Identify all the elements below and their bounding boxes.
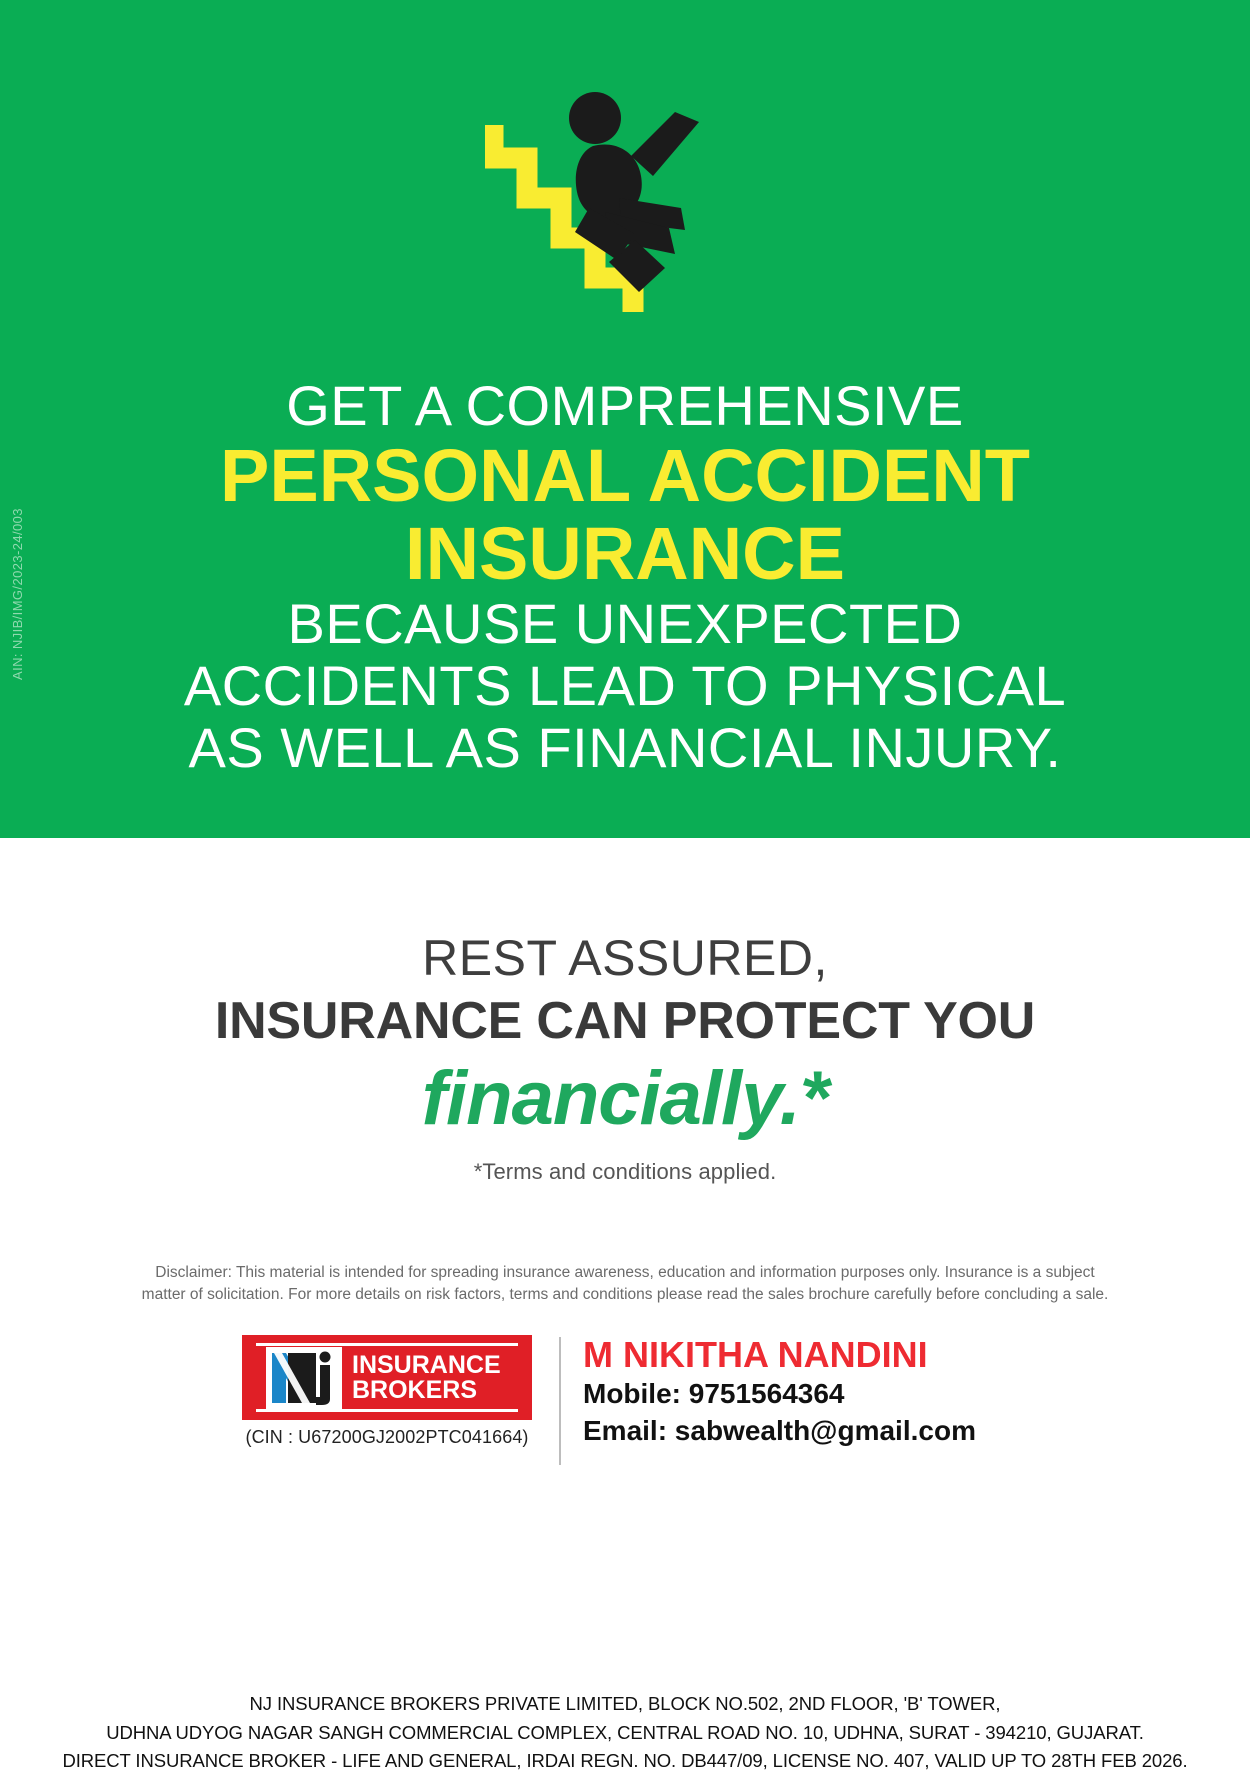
headline-line-3: INSURANCE: [0, 515, 1250, 593]
contact-divider: [559, 1337, 561, 1465]
logo-rule-bottom: [256, 1409, 518, 1412]
contact-strip: INSURANCE BROKERS (CIN : U67200GJ2002PTC…: [0, 1333, 1250, 1465]
falling-person-on-stairs-icon: [485, 80, 765, 330]
headline-line-1: GET A COMPREHENSIVE: [0, 375, 1250, 437]
disclaimer-line-2: matter of solicitation. For more details…: [62, 1284, 1188, 1306]
agent-name: M NIKITHA NANDINI: [583, 1335, 1013, 1375]
footer-address-block: NJ INSURANCE BROKERS PRIVATE LIMITED, BL…: [0, 1690, 1250, 1776]
headline-line-4: BECAUSE UNEXPECTED: [0, 593, 1250, 655]
footer-line-1: NJ INSURANCE BROKERS PRIVATE LIMITED, BL…: [0, 1690, 1250, 1719]
agent-mobile[interactable]: Mobile: 9751564364: [583, 1375, 1013, 1413]
hero-headline: GET A COMPREHENSIVE PERSONAL ACCIDENT IN…: [0, 375, 1250, 779]
disclaimer-block: Disclaimer: This material is intended fo…: [62, 1262, 1188, 1307]
hero-green-panel: AIN: NJIB/IMG/2023-24/003: [0, 0, 1250, 838]
insurance-poster: AIN: NJIB/IMG/2023-24/003: [0, 0, 1250, 1780]
middle-line-financially: financially.*: [0, 1051, 1250, 1141]
middle-line-protect-you: INSURANCE CAN PROTECT YOU: [0, 988, 1250, 1052]
agent-email[interactable]: Email: sabwealth@gmail.com: [583, 1412, 1013, 1450]
hero-icon-container: [0, 80, 1250, 345]
middle-message: REST ASSURED, INSURANCE CAN PROTECT YOU …: [0, 930, 1250, 1185]
logo-wordmark: INSURANCE BROKERS: [352, 1353, 501, 1403]
agent-details: M NIKITHA NANDINI Mobile: 9751564364 Ema…: [583, 1333, 1013, 1450]
terms-and-conditions-note: *Terms and conditions applied.: [0, 1141, 1250, 1185]
logo-word-insurance: INSURANCE: [352, 1353, 501, 1378]
headline-line-5: ACCIDENTS LEAD TO PHYSICAL: [0, 655, 1250, 717]
footer-line-2: UDHNA UDYOG NAGAR SANGH COMMERCIAL COMPL…: [0, 1719, 1250, 1748]
logo-word-brokers: BROKERS: [352, 1378, 501, 1403]
disclaimer-line-1: Disclaimer: This material is intended fo…: [62, 1262, 1188, 1284]
nj-insurance-brokers-logo: INSURANCE BROKERS: [242, 1335, 532, 1420]
headline-line-6: AS WELL AS FINANCIAL INJURY.: [0, 717, 1250, 779]
cin-number: (CIN : U67200GJ2002PTC041664): [237, 1420, 537, 1448]
logo-column: INSURANCE BROKERS (CIN : U67200GJ2002PTC…: [237, 1333, 537, 1448]
footer-line-3: DIRECT INSURANCE BROKER - LIFE AND GENER…: [0, 1747, 1250, 1776]
middle-line-rest-assured: REST ASSURED,: [0, 930, 1250, 988]
headline-line-2: PERSONAL ACCIDENT: [0, 437, 1250, 515]
nj-monogram-icon: [266, 1347, 342, 1409]
